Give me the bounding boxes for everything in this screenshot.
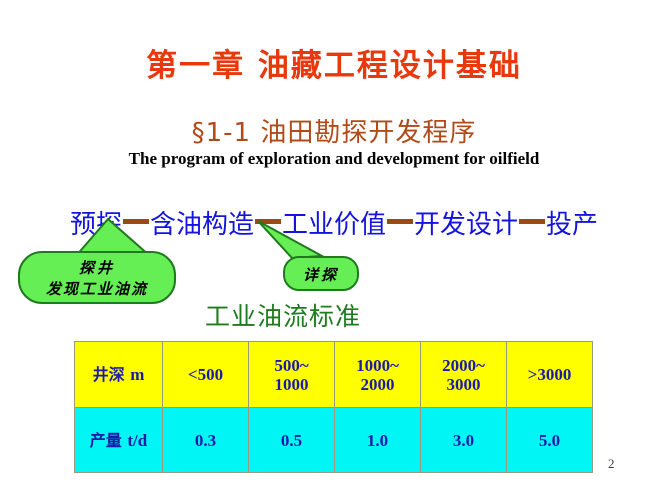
flow-connector-1 [123,219,149,224]
table-cell-production-5: 5.0 [507,408,593,473]
flow-connector-4 [519,219,545,224]
page-number: 2 [608,456,615,472]
cell-line-1: 5.0 [508,431,591,450]
section-title-english: The program of exploration and developme… [0,149,668,169]
table-row: 井深 m <500 500~ 1000 1000~ 2000 2000~ [75,342,593,408]
callout-bubble-exploration-well: 探井 发现工业油流 [18,251,176,304]
cell-line-2: 3000 [422,375,505,394]
table-cell-production-2: 0.5 [249,408,335,473]
table-row-label-depth: 井深 m [75,342,163,408]
cell-line-1: 0.3 [164,431,247,450]
flow-node-1: 预探 [70,210,122,240]
row-label-line-1: 井深 [93,365,125,384]
callout-bubble-detailed-survey: 详探 [283,256,359,291]
cell-line-1: <500 [164,365,247,384]
cell-line-1: 500~ [250,356,333,375]
cell-line-1: 3.0 [422,431,505,450]
flow-node-2: 含油构造 [150,210,254,240]
well-depth-production-table: 井深 m <500 500~ 1000 1000~ 2000 2000~ [74,341,593,473]
cell-line-1: 1.0 [336,431,419,450]
cell-line-2: 1000 [250,375,333,394]
table-cell-production-3: 1.0 [335,408,421,473]
section-title: §1-1 油田勘探开发程序 [0,112,668,149]
cell-line-1: 0.5 [250,431,333,450]
callout-line-2: 发现工业油流 [20,278,174,300]
process-flow: 预探含油构造工业价值开发设计投产 [0,204,668,241]
flow-node-3: 工业价值 [282,210,386,240]
table-cell-depth-1: <500 [163,342,249,408]
table-cell-depth-4: 2000~ 3000 [421,342,507,408]
flow-connector-2 [255,219,281,224]
table-cell-depth-5: >3000 [507,342,593,408]
flow-connector-3 [387,219,413,224]
table-row: 产量 t/d 0.3 0.5 1.0 3.0 5.0 [75,408,593,473]
callout-line-1: 探井 [20,258,174,278]
flow-node-4: 开发设计 [414,210,518,240]
table-cell-production-4: 3.0 [421,408,507,473]
table-row-label-production: 产量 t/d [75,408,163,473]
callout-line-1: 详探 [285,264,357,286]
table-cell-production-1: 0.3 [163,408,249,473]
table-cell-depth-3: 1000~ 2000 [335,342,421,408]
cell-line-1: 2000~ [422,356,505,375]
cell-line-1: 1000~ [336,356,419,375]
row-label-line-1: 产量 [90,431,122,450]
page-title: 第一章 油藏工程设计基础 [0,40,668,85]
table-cell-depth-2: 500~ 1000 [249,342,335,408]
slide-canvas: 第一章 油藏工程设计基础 §1-1 油田勘探开发程序 The program o… [0,0,668,502]
industrial-oil-flow-standard-caption: 工业油流标准 [205,297,361,333]
row-label-line-2: t/d [127,431,147,450]
cell-line-2: 2000 [336,375,419,394]
cell-line-1: >3000 [508,365,591,384]
row-label-line-2: m [130,365,144,384]
flow-node-5: 投产 [546,210,598,240]
